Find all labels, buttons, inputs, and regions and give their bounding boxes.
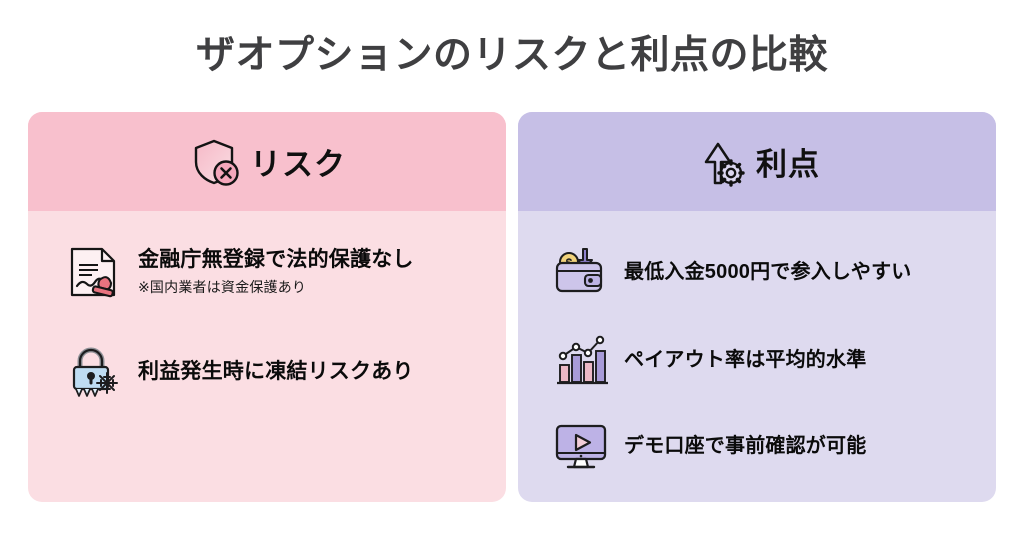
page-title: ザオプションのリスクと利点の比較: [0, 34, 1024, 79]
benefit-list-item: デモ口座で事前確認が可能: [518, 417, 996, 475]
risk-list-item: 金融庁無登録で法的保護なし ※国内業者は資金保護あり: [28, 241, 506, 303]
benefit-item-label: デモ口座で事前確認が可能: [624, 434, 866, 459]
benefit-item-text-wrap: デモ口座で事前確認が可能: [624, 434, 866, 459]
risk-item-label: 金融庁無登録で法的保護なし: [138, 247, 414, 273]
monitor-play-icon: [552, 417, 610, 475]
benefit-list-item: $ 最低入金5000円で参入しやすい: [518, 243, 996, 301]
benefit-card: 利点 $ 最低入金5000円で参入しやすい: [518, 112, 996, 502]
risk-item-label: 利益発生時に凍結リスクあり: [138, 359, 414, 385]
risk-card: リスク: [28, 112, 506, 502]
risk-card-body: 金融庁無登録で法的保護なし ※国内業者は資金保護あり: [28, 211, 506, 502]
benefit-item-label: ペイアウト率は平均的水準: [624, 348, 866, 373]
risk-card-header: リスク: [28, 112, 506, 211]
benefit-list-item: ペイアウト率は平均的水準: [518, 331, 996, 389]
benefit-card-header: 利点: [518, 112, 996, 211]
bar-chart-icon: [552, 331, 610, 389]
benefit-card-body: $ 最低入金5000円で参入しやすい: [518, 211, 996, 502]
arrow-up-gear-icon: [694, 136, 746, 188]
risk-item-note: ※国内業者は資金保護あり: [138, 277, 414, 297]
benefit-item-label: 最低入金5000円で参入しやすい: [624, 260, 912, 285]
shield-x-icon: [188, 136, 240, 188]
risk-item-text-wrap: 金融庁無登録で法的保護なし ※国内業者は資金保護あり: [138, 247, 414, 296]
frozen-lock-icon: [62, 341, 124, 403]
risk-item-text-wrap: 利益発生時に凍結リスクあり: [138, 359, 414, 385]
document-stamp-icon: [62, 241, 124, 303]
risk-list-item: 利益発生時に凍結リスクあり: [28, 341, 506, 403]
benefit-card-title: 利点: [756, 139, 820, 184]
benefit-item-text-wrap: 最低入金5000円で参入しやすい: [624, 260, 912, 285]
wallet-deposit-icon: $: [552, 243, 610, 301]
benefit-item-text-wrap: ペイアウト率は平均的水準: [624, 348, 866, 373]
risk-card-title: リスク: [250, 139, 346, 184]
comparison-cards: リスク: [28, 112, 996, 502]
